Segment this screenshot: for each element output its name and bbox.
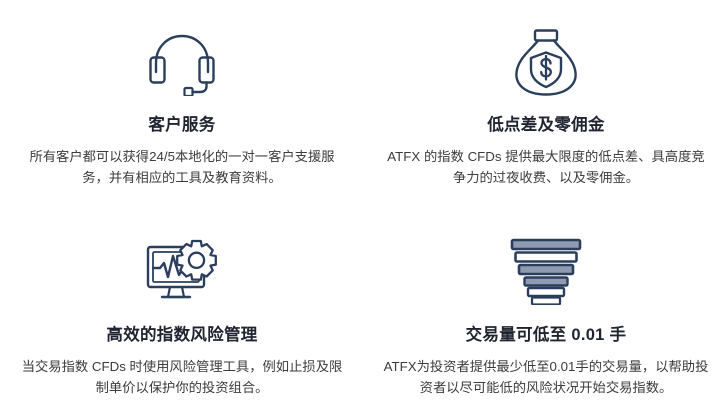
feature-card-low-spread: 低点差及零佣金 ATFX 的指数 CFDs 提供最大限度的低点差、具高度竞争力的… [364,0,728,206]
feature-card-customer-service: 客户服务 所有客户都可以获得24/5本地化的一对一客户支援服务，并有相应的工具及… [0,0,364,206]
feature-description: 所有客户都可以获得24/5本地化的一对一客户支援服务，并有相应的工具及教育资料。 [17,146,347,189]
feature-description: ATFX 的指数 CFDs 提供最大限度的低点差、具高度竞争力的过夜收费、以及零… [381,146,711,189]
feature-title: 低点差及零佣金 [487,116,605,136]
feature-title: 客户服务 [148,116,215,136]
feature-title: 高效的指数风险管理 [106,326,257,346]
feature-title: 交易量可低至 0.01 手 [466,326,627,346]
headset-icon [142,24,222,102]
money-bag-shield-dollar-icon [509,24,583,102]
feature-card-risk-management: 高效的指数风险管理 当交易指数 CFDs 时使用风险管理工具，例如止损及限制单价… [0,206,364,413]
feature-description: 当交易指数 CFDs 时使用风险管理工具，例如止损及限制单价以保护你的投资组合。 [17,356,347,399]
monitor-chart-gear-icon [144,232,220,310]
feature-description: ATFX为投资者提供最少低至0.01手的交易量，以帮助投资者以尽可能低的风险状况… [381,356,711,399]
features-grid: 客户服务 所有客户都可以获得24/5本地化的一对一客户支援服务，并有相应的工具及… [0,0,728,413]
stacked-bars-funnel-icon [507,232,585,310]
feature-card-min-lot-size: 交易量可低至 0.01 手 ATFX为投资者提供最少低至0.01手的交易量，以帮… [364,206,728,413]
